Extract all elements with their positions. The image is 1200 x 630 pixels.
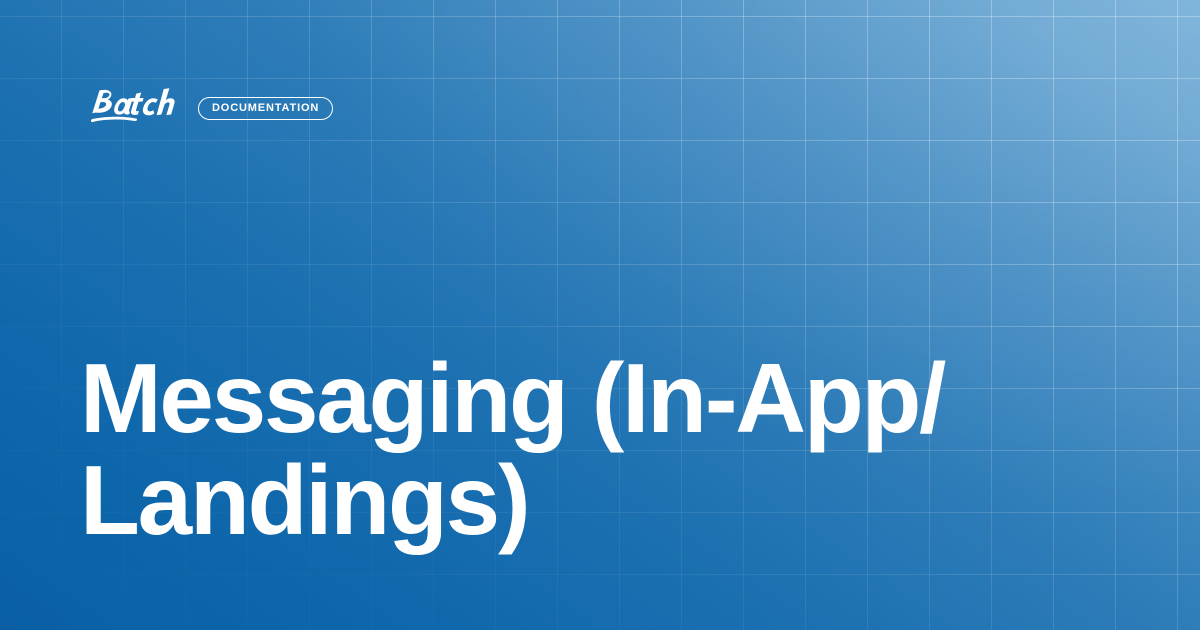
documentation-badge: DOCUMENTATION xyxy=(198,97,333,120)
og-card: DOCUMENTATION Messaging (In-App/ Landing… xyxy=(0,0,1200,630)
header: DOCUMENTATION xyxy=(80,86,333,130)
page-title: Messaging (In-App/ Landings) xyxy=(80,348,1080,552)
hero-title-block: Messaging (In-App/ Landings) xyxy=(80,348,1080,552)
batch-logo-icon[interactable] xyxy=(80,86,184,130)
